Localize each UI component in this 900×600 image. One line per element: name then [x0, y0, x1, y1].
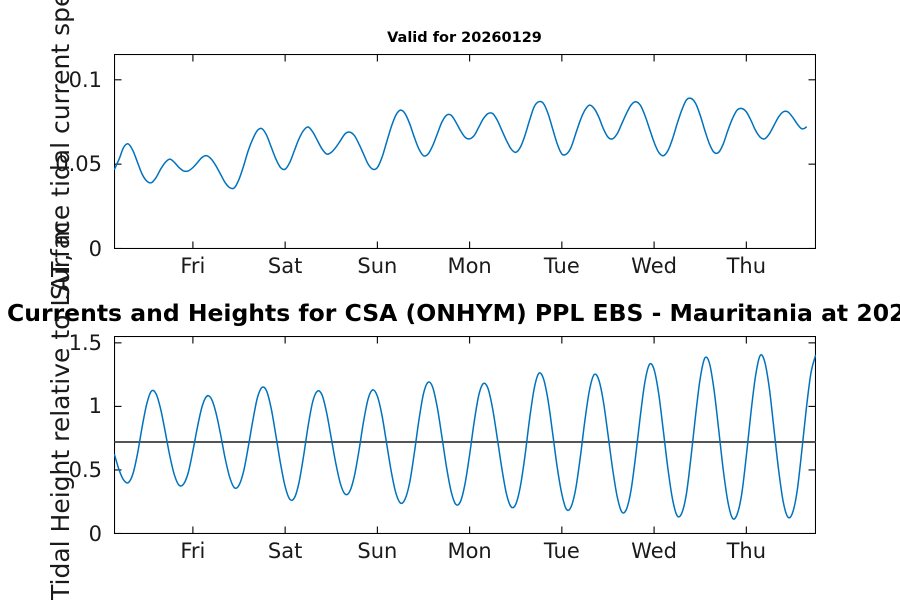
x-axis-tick-label: Thu — [727, 254, 766, 278]
y-axis-tick-label: 0.1 — [12, 68, 102, 92]
x-axis-tick-label: Sun — [357, 254, 397, 278]
plot-area — [114, 336, 816, 534]
x-axis-tick-label: Tue — [544, 539, 580, 563]
x-axis-tick-label: Mon — [447, 539, 491, 563]
y-axis-tick-label: 0 — [12, 522, 102, 546]
data-series-line — [115, 98, 807, 189]
data-series-line — [115, 355, 816, 519]
page-title: Tidal Currents and Heights for CSA (ONHY… — [0, 299, 900, 327]
x-axis-tick-label: Tue — [544, 254, 580, 278]
x-axis-tick-label: Wed — [631, 254, 677, 278]
chart-surface-tidal-current-speed: 00.050.1FriSatSunMonTueWedThu — [114, 54, 815, 248]
x-axis-tick-label: Sun — [357, 539, 397, 563]
x-axis-tick-label: Mon — [447, 254, 491, 278]
x-axis-tick-label: Thu — [727, 539, 766, 563]
y-axis-tick-label: 1.5 — [12, 331, 102, 355]
x-axis-tick-label: Sat — [268, 539, 302, 563]
x-axis-tick-label: Fri — [180, 254, 205, 278]
x-axis-tick-label: Fri — [180, 539, 205, 563]
chart-tidal-height-relative-to-lat: 00.511.5FriSatSunMonTueWedThu — [114, 336, 815, 533]
plot-area — [114, 54, 816, 249]
x-axis-tick-label: Wed — [631, 539, 677, 563]
x-axis-tick-label: Sat — [268, 254, 302, 278]
y-axis-tick-label: 1 — [12, 394, 102, 418]
figure-canvas: Surface tidal current speed, kn Valid fo… — [0, 0, 900, 600]
chart-subtitle-valid-for: Valid for 20260129 — [114, 30, 815, 46]
plot-box — [115, 55, 816, 249]
y-axis-tick-label: 0.05 — [12, 152, 102, 176]
y-axis-tick-label: 0.5 — [12, 458, 102, 482]
